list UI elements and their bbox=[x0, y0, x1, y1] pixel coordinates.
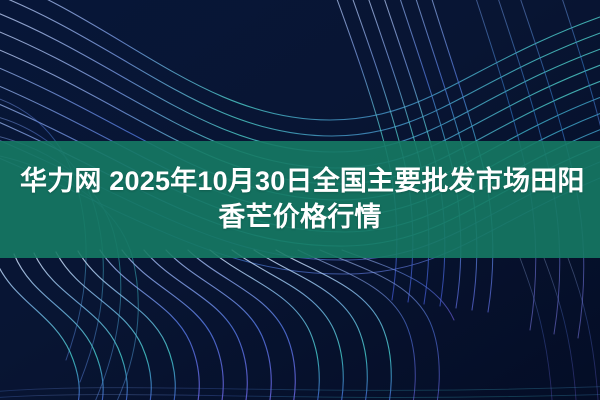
title-line-1: 华力网 2025年10月30日全国主要批发市场田阳 bbox=[20, 164, 580, 200]
page-title: 华力网 2025年10月30日全国主要批发市场田阳 香芒价格行情 bbox=[20, 164, 580, 235]
title-line-2: 香芒价格行情 bbox=[20, 200, 580, 236]
title-band: 华力网 2025年10月30日全国主要批发市场田阳 香芒价格行情 bbox=[0, 141, 600, 258]
title-banner: 华力网 2025年10月30日全国主要批发市场田阳 香芒价格行情 bbox=[0, 0, 600, 400]
